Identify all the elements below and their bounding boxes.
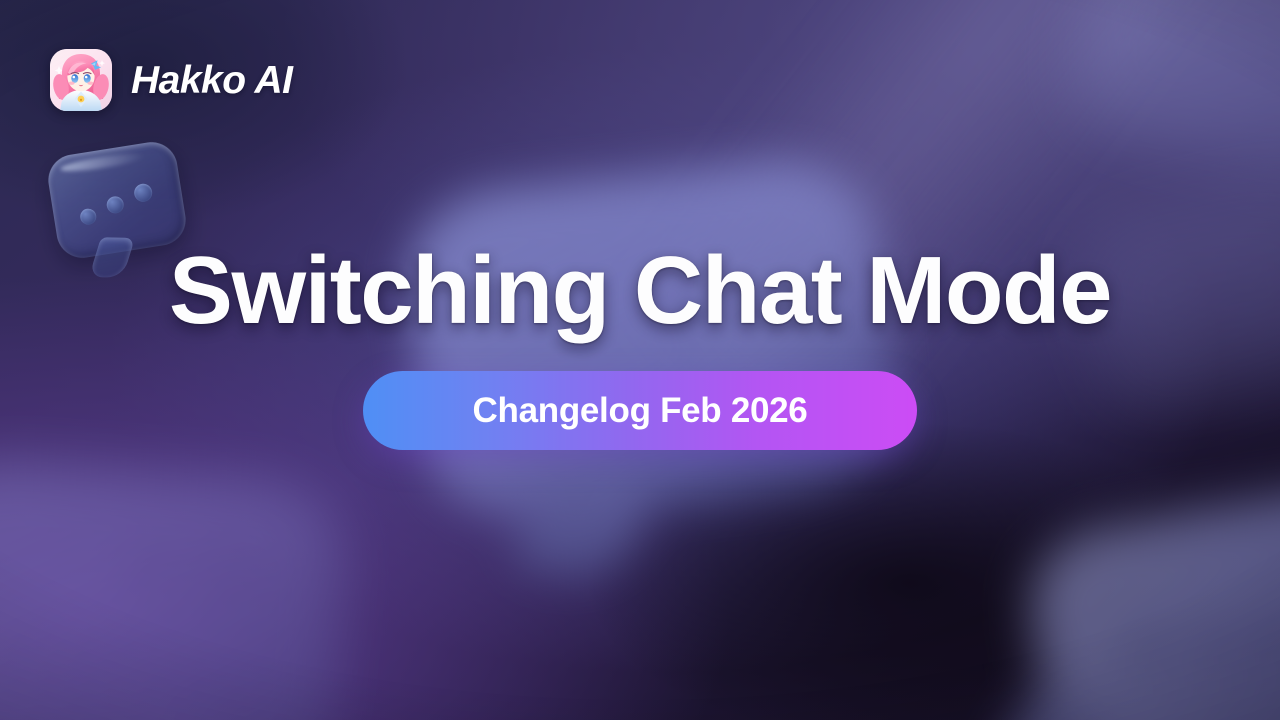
brand-name: Hakko AI <box>131 61 292 100</box>
speech-bubble-icon-bottom-left <box>0 455 350 720</box>
page-title: Switching Chat Mode <box>169 243 1111 339</box>
changelog-hero-banner: Hakko AI Switching Chat Mode Changelog F… <box>0 0 1280 720</box>
hero-content: Switching Chat Mode Changelog Feb 2026 <box>0 243 1280 450</box>
changelog-badge[interactable]: Changelog Feb 2026 <box>363 371 917 450</box>
anime-girl-avatar-icon <box>50 49 112 111</box>
brand-logo[interactable]: Hakko AI <box>50 49 292 111</box>
